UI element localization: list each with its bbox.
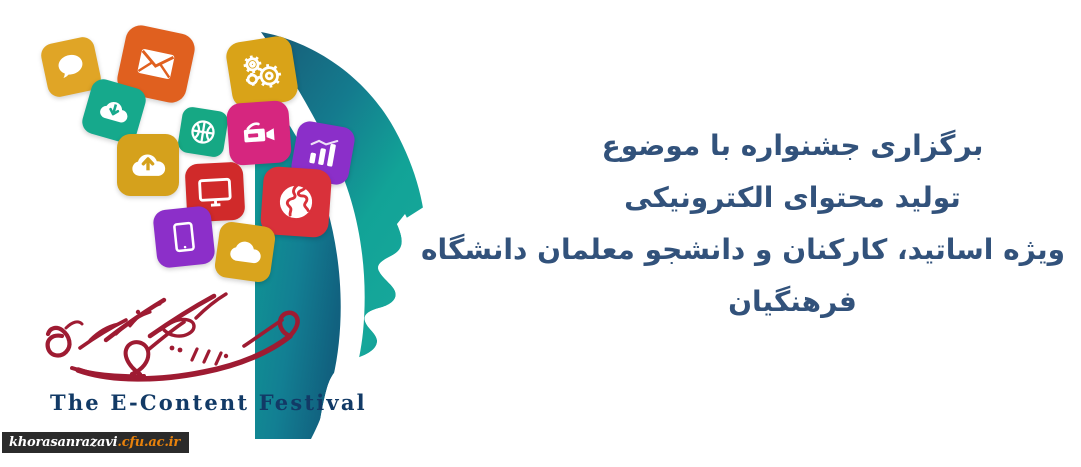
gears-icon bbox=[224, 34, 300, 110]
festival-english-title: The E-Content Festival bbox=[50, 390, 310, 415]
tablet-icon bbox=[152, 205, 216, 269]
announcement-line-3: ویژه اساتید، کارکنان و دانشجو معلمان دان… bbox=[520, 224, 1065, 276]
globe-icon bbox=[260, 166, 333, 239]
basketball-icon bbox=[177, 106, 230, 159]
announcement-line-4: فرهنگیان bbox=[520, 276, 1065, 328]
site-watermark: khorasanrazavi.cfu.ac.ir bbox=[2, 432, 189, 453]
watermark-host: khorasanrazavi bbox=[9, 435, 117, 450]
poster-root: The E-Content Festival khorasanrazavi.cf… bbox=[0, 0, 1081, 467]
announcement-line-1: برگزاری جشنواره با موضوع bbox=[520, 120, 1065, 172]
announcement-text-block: برگزاری جشنواره با موضوع تولید محتوای ال… bbox=[520, 120, 1065, 328]
cloud-upload-icon bbox=[117, 134, 179, 196]
festival-calligraphy bbox=[20, 278, 310, 396]
festival-logo: The E-Content Festival bbox=[20, 278, 310, 433]
cloud-icon bbox=[213, 220, 276, 283]
announcement-line-2: تولید محتوای الکترونیکی bbox=[520, 172, 1065, 224]
watermark-domain: .cfu.ac.ir bbox=[117, 435, 180, 450]
video-camera-icon bbox=[226, 100, 292, 166]
